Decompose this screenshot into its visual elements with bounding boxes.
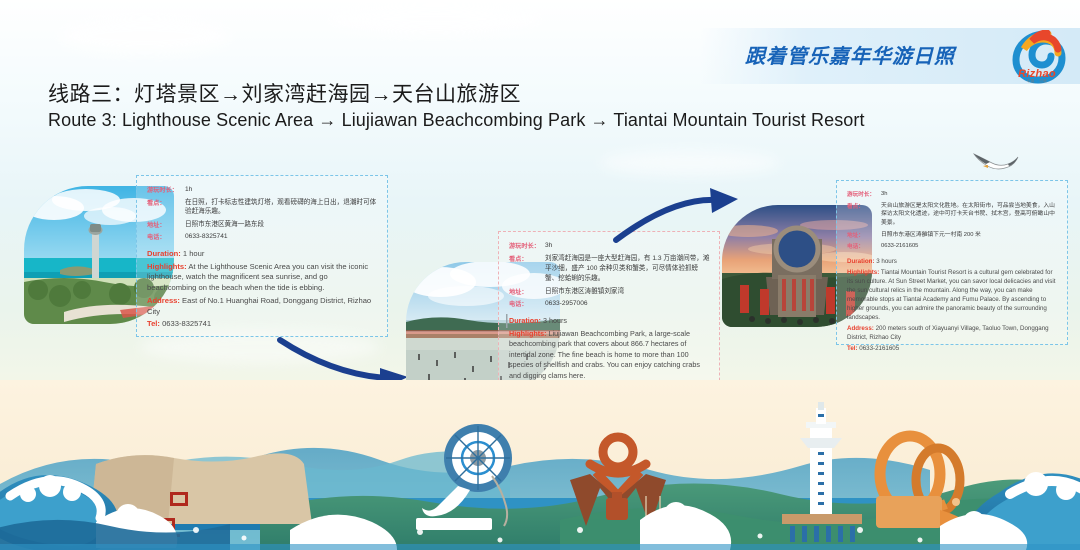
duration-value-en: 3 hours xyxy=(876,258,897,265)
highlights-value-en: Tiantai Mountain Tourist Resort is a cul… xyxy=(847,269,1055,321)
address-label-en: Address: xyxy=(147,296,180,305)
duration-value-en: 3 hours xyxy=(543,316,567,325)
duration-value-cn: 1h xyxy=(185,185,192,195)
address-value-cn: 日照市东港区黄海一路东段 xyxy=(185,220,264,230)
duration-value-en: 1 hour xyxy=(183,249,205,258)
logo-subtext: 中国 · 日照 xyxy=(1005,79,1069,84)
tel-value-en: 0633-8325741 xyxy=(162,319,211,328)
duration-label-cn: 游玩时长： xyxy=(847,190,881,198)
card-cn-block: 游玩时长：3h 看点：天台山旅游区是太阳文化胜地。在太阳街市，可品尝当地美食，入… xyxy=(837,181,1067,256)
address-label-cn: 地址： xyxy=(847,231,881,239)
phone-label-cn: 电话： xyxy=(147,232,185,241)
duration-value-cn: 3h xyxy=(545,241,552,251)
route-title-cn: 线路三：灯塔景区→刘家湾赶海园→天台山旅游区 xyxy=(48,78,521,108)
card-en-block: Duration: 3 hours Highlights: Tiantai Mo… xyxy=(837,256,1067,360)
phone-label-cn: 电话： xyxy=(509,299,545,308)
stop-card-lighthouse[interactable]: 游玩时长：1h 看点：在日照，打卡标志性建筑灯塔，观看磅礴的海上日出，退潮时可体… xyxy=(136,175,388,337)
tel-label-en: Tel: xyxy=(147,319,160,328)
address-label-cn: 地址： xyxy=(147,220,185,229)
route-title-en: Route 3: Lighthouse Scenic Area → Liujia… xyxy=(48,110,865,131)
banner-title: 跟着管乐嘉年华游日照 xyxy=(745,40,995,69)
duration-label-cn: 游玩时长： xyxy=(509,241,545,250)
address-value-en: 200 meters south of Xiayuanyi Village, T… xyxy=(847,325,1049,341)
card-en-block: Duration: 1 hour Highlights: At the Ligh… xyxy=(137,247,387,336)
stop-card-tiantai[interactable]: 游玩时长：3h 看点：天台山旅游区是太阳文化胜地。在太阳街市，可品尝当地美食，入… xyxy=(836,180,1068,345)
highlights-label-en: Highlights: xyxy=(509,329,547,338)
duration-label-cn: 游玩时长： xyxy=(147,185,185,194)
highlights-label-en: Highlights: xyxy=(847,269,879,276)
duration-value-cn: 3h xyxy=(881,190,887,199)
tel-value-en: 0633-2161605 xyxy=(859,345,899,352)
route-arrow-2-icon xyxy=(612,188,742,250)
card-cn-block: 游玩时长：1h 看点：在日照，打卡标志性建筑灯塔，观看磅礴的海上日出，退潮时可体… xyxy=(137,176,387,247)
phone-value-cn: 0633-2161605 xyxy=(881,242,918,251)
highlights-value-cn: 刘家湾赶海园是一座大型赶海园，有 1.3 万亩潮间带，滩平沙细，盛产 100 余… xyxy=(545,254,711,284)
phone-label-cn: 电话： xyxy=(847,242,881,250)
cloud-shape xyxy=(60,18,230,54)
highlights-value-cn: 在日照，打卡标志性建筑灯塔，观看磅礴的海上日出，退潮时可体验赶海乐趣。 xyxy=(185,198,379,217)
tel-label-en: Tel: xyxy=(847,345,858,352)
coastal-scene-illustration xyxy=(0,380,1080,550)
highlights-label-cn: 看点： xyxy=(509,254,545,263)
address-value-en: East of No.1 Huanghai Road, Donggang Dis… xyxy=(147,296,371,316)
phone-value-cn: 0633-2957006 xyxy=(545,299,588,309)
address-value-cn: 日照市东港区涛雒镇刘家湾 xyxy=(545,287,624,297)
seagull-icon xyxy=(968,148,1020,174)
highlights-label-cn: 看点： xyxy=(147,198,185,207)
poster-canvas: 跟着管乐嘉年华游日照 Rizhao 中国 · 日照 线路三：灯塔景区→刘家湾赶海… xyxy=(0,0,1080,550)
cloud-shape xyxy=(600,150,780,176)
phone-value-cn: 0633-8325741 xyxy=(185,232,228,242)
address-value-cn: 日照市东港区涛雒镇下元一村南 200 米 xyxy=(881,231,981,240)
highlights-value-cn: 天台山旅游区是太阳文化胜地。在太阳街市，可品尝当地美食，入山探访太阳文化遗迹，途… xyxy=(881,202,1059,228)
highlights-label-cn: 看点： xyxy=(847,202,881,210)
highlights-label-en: Highlights: xyxy=(147,262,187,271)
duration-label-en: Duration: xyxy=(847,258,875,265)
duration-label-en: Duration: xyxy=(509,316,541,325)
cloud-shape xyxy=(330,4,540,34)
duration-label-en: Duration: xyxy=(147,249,181,258)
address-label-en: Address: xyxy=(847,325,874,332)
address-label-cn: 地址： xyxy=(509,287,545,296)
